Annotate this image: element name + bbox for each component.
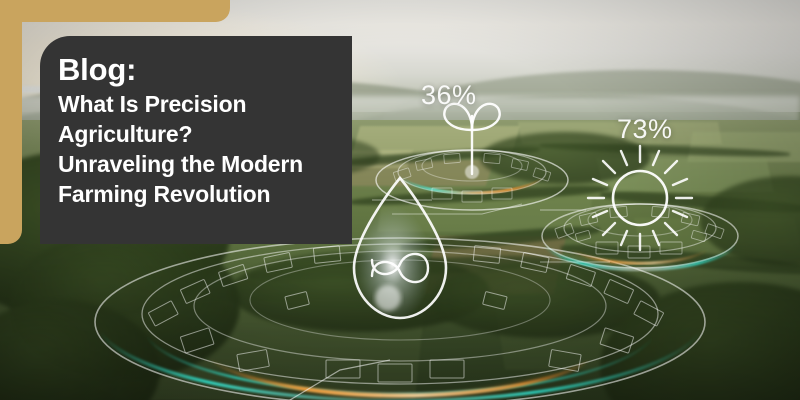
gold-accent-bar-top <box>0 0 230 22</box>
title-card: Blog: What Is Precision Agriculture? Unr… <box>40 36 352 244</box>
gold-accent-strip-left <box>0 0 22 244</box>
sun-metric-label: 73% <box>617 114 673 145</box>
headline-line-3: Unraveling the Modern <box>58 150 332 180</box>
page-title: What Is Precision Agriculture? Unravelin… <box>58 90 332 210</box>
headline-line-1: What Is Precision <box>58 90 332 120</box>
blog-hero-banner: 36% 73% Blog: What Is Precision Agricult… <box>0 0 800 400</box>
sprout-metric-label: 36% <box>421 80 477 111</box>
headline-line-2: Agriculture? <box>58 120 332 150</box>
headline-line-4: Farming Revolution <box>58 180 332 210</box>
blog-eyebrow-label: Blog: <box>58 54 332 87</box>
